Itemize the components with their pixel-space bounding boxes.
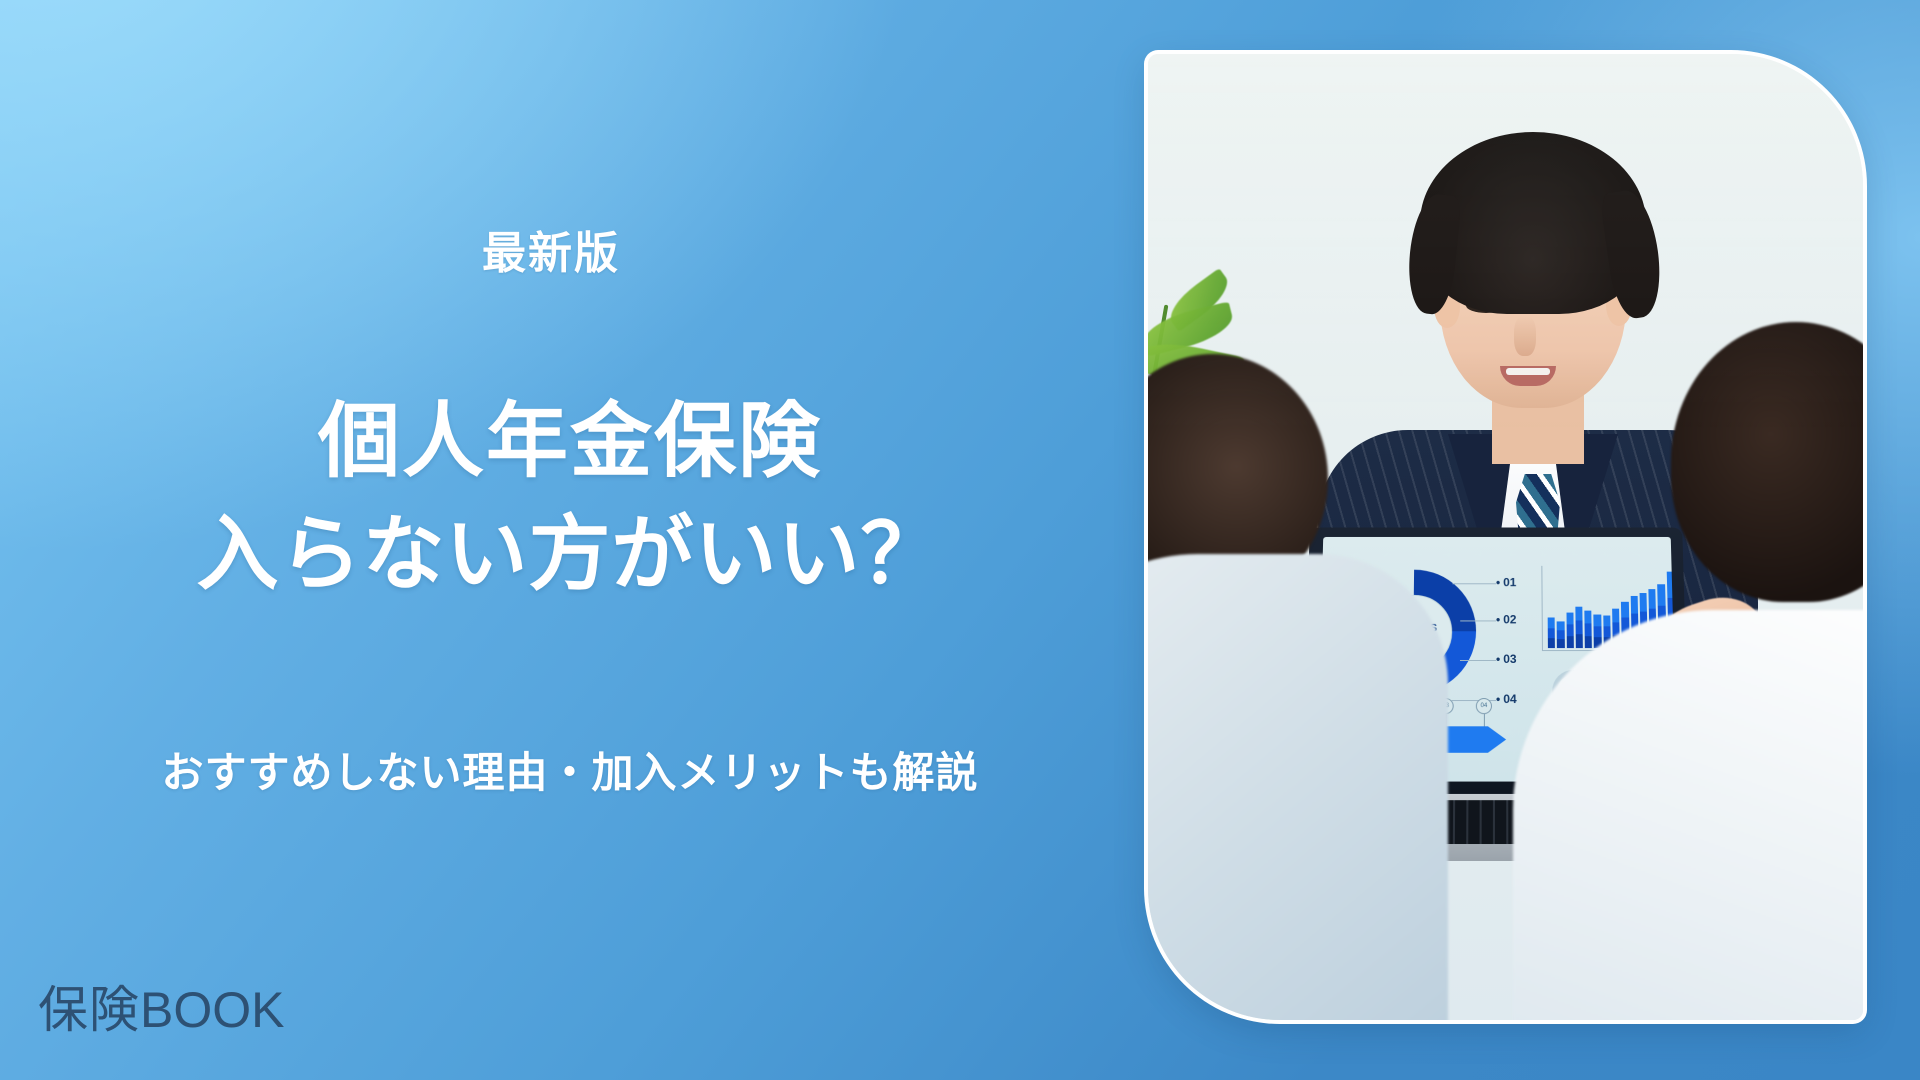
bar-chart-bar: [1557, 621, 1565, 648]
advisor-nose: [1514, 316, 1536, 356]
step-label-01: 01: [1496, 576, 1516, 590]
step-pin-04: 04: [1476, 698, 1492, 714]
badge-latest-version: 最新版: [482, 232, 620, 276]
bar-chart-bar: [1548, 617, 1556, 648]
step-label-04: 04: [1496, 692, 1517, 706]
leader-line: [1460, 620, 1496, 621]
text-column: 最新版 個人年金保険 入らない方がいい？ おすすめしない理由・加入メリットも解説: [0, 0, 1140, 1080]
bar-chart-bar: [1575, 607, 1583, 648]
logo-en-text: BOOK: [140, 982, 284, 1038]
client-right-head: [1671, 322, 1863, 602]
hero-photo: 4 STEPS 01 02 03 04 6: [1148, 54, 1863, 1020]
leader-line: [1452, 583, 1496, 584]
leader-line: [1460, 660, 1496, 661]
step-label-03: 03: [1496, 652, 1517, 666]
logo-jp-text: 保険: [38, 981, 140, 1039]
site-logo[interactable]: 保険BOOK: [38, 985, 284, 1035]
hero-banner: 最新版 個人年金保険 入らない方がいい？ おすすめしない理由・加入メリットも解説…: [0, 0, 1920, 1080]
page-title: 個人年金保険 入らない方がいい？: [0, 385, 1140, 611]
bar-chart-y-axis: [1541, 566, 1543, 650]
advisor-hair: [1420, 132, 1646, 314]
bar-chart-bar: [1566, 613, 1574, 648]
step-label-02: 02: [1496, 613, 1516, 627]
title-line-2: 入らない方がいい？: [0, 498, 1140, 611]
photo-content: 4 STEPS 01 02 03 04 6: [1148, 54, 1863, 1020]
bar-chart-bar: [1594, 615, 1602, 649]
page-subtitle: おすすめしない理由・加入メリットも解説: [0, 752, 1140, 794]
bar-chart-bar: [1584, 611, 1592, 648]
client-left-body: [1148, 554, 1448, 1020]
title-line-1: 個人年金保険: [0, 385, 1140, 498]
